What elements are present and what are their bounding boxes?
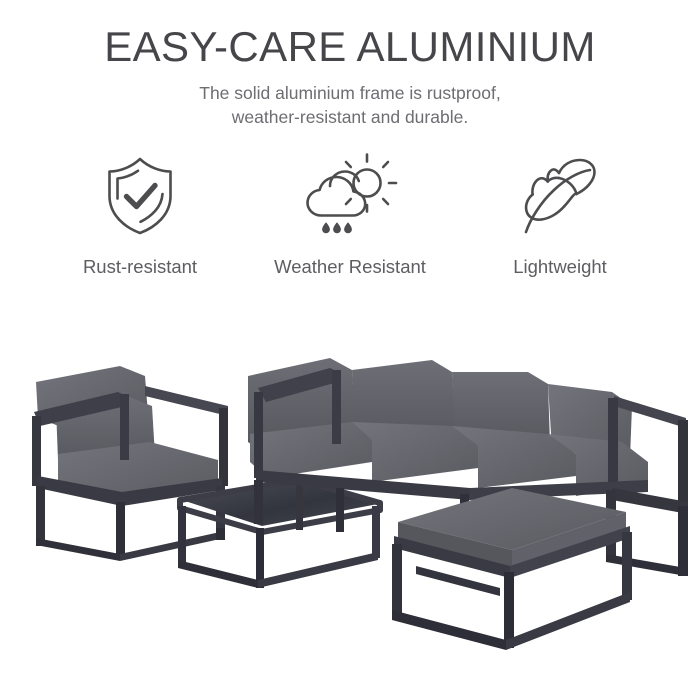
page-title: EASY-CARE ALUMINIUM (0, 22, 700, 72)
feature-rust-resistant: Rust-resistant (40, 150, 240, 278)
feature-lightweight: Lightweight (460, 150, 660, 278)
subtitle: The solid aluminium frame is rustproof, … (0, 81, 700, 129)
subtitle-line-2: weather-resistant and durable. (0, 105, 700, 129)
piece-ottoman-chaise (392, 488, 632, 650)
product-photo (0, 330, 700, 660)
feather-icon (514, 150, 606, 242)
promo-banner: EASY-CARE ALUMINIUM The solid aluminium … (0, 0, 700, 700)
feature-label: Weather Resistant (274, 256, 426, 278)
subtitle-line-1: The solid aluminium frame is rustproof, (0, 81, 700, 105)
header: EASY-CARE ALUMINIUM The solid aluminium … (0, 22, 700, 129)
feature-weather-resistant: Weather Resistant (250, 150, 450, 278)
feature-label: Lightweight (513, 256, 607, 278)
feature-list: Rust-resistant (40, 150, 660, 278)
piece-armchair (32, 366, 228, 561)
sun-cloud-rain-icon (301, 150, 399, 242)
furniture-set-illustration (0, 330, 700, 660)
shield-check-icon (98, 150, 182, 242)
feature-label: Rust-resistant (83, 256, 197, 278)
piece-coffee-table (178, 480, 380, 588)
